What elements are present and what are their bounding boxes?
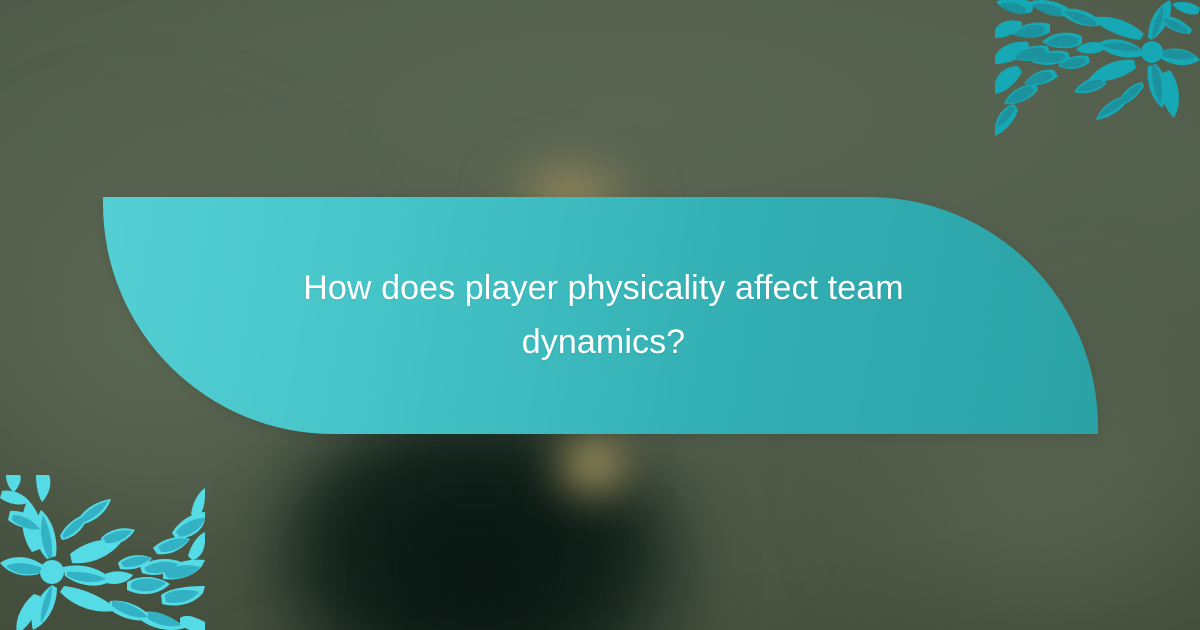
question-banner: How does player physicality affect team …	[103, 197, 1098, 434]
question-text: How does player physicality affect team …	[248, 262, 954, 369]
question-card: How does player physicality affect team …	[0, 0, 1200, 630]
